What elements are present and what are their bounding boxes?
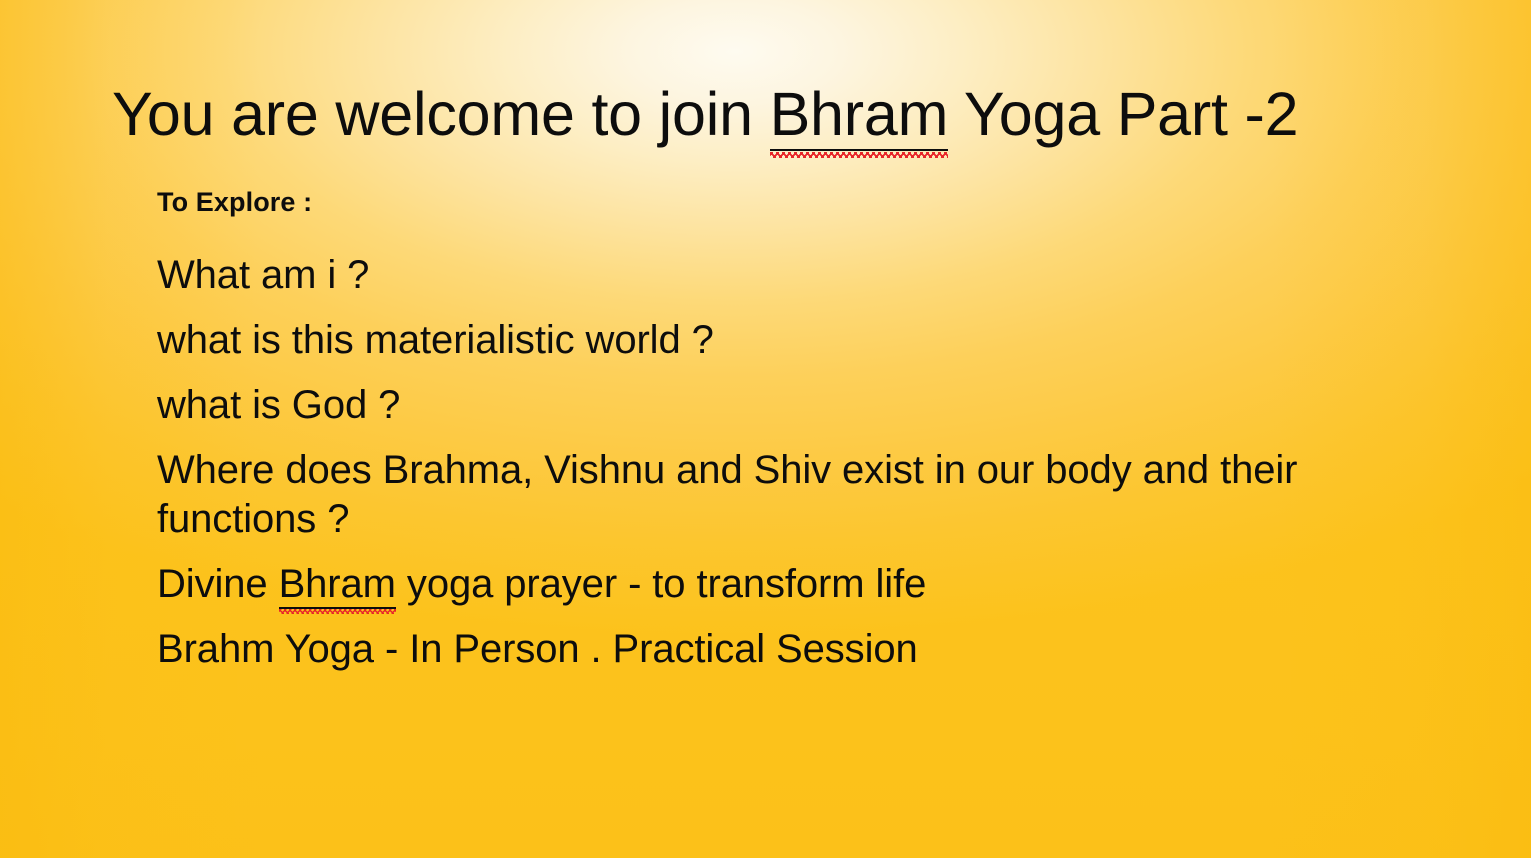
body-misspelled-word: Bhram [279,562,396,609]
body-line-text-before: Divine [157,562,279,606]
slide-title-text-before: You are welcome to join [112,80,770,148]
slide-content: You are welcome to join Bhram Yoga Part … [0,0,1531,858]
body-line-text-after: yoga prayer - to transform life [396,562,926,606]
slide-title-misspelled-word: Bhram [770,80,949,151]
body-line-brahm-yoga-in-person: Brahm Yoga - In Person . Practical Sessi… [157,625,1387,674]
body-line-brahma-vishnu-shiv: Where does Brahma, Vishnu and Shiv exist… [157,446,1352,544]
presentation-slide: You are welcome to join Bhram Yoga Part … [0,0,1531,858]
body-line-divine-bhram-prayer: Divine Bhram yoga prayer - to transform … [157,560,1387,609]
body-line-materialistic-world: what is this materialistic world ? [157,316,1387,365]
slide-body: To Explore : What am i ? what is this ma… [157,186,1387,674]
body-line-what-is-god: what is God ? [157,381,1387,430]
body-line-what-am-i: What am i ? [157,251,1387,300]
slide-title-text-after: Yoga Part -2 [948,80,1298,148]
slide-title: You are welcome to join Bhram Yoga Part … [112,83,1432,146]
to-explore-label: To Explore : [157,186,1387,218]
